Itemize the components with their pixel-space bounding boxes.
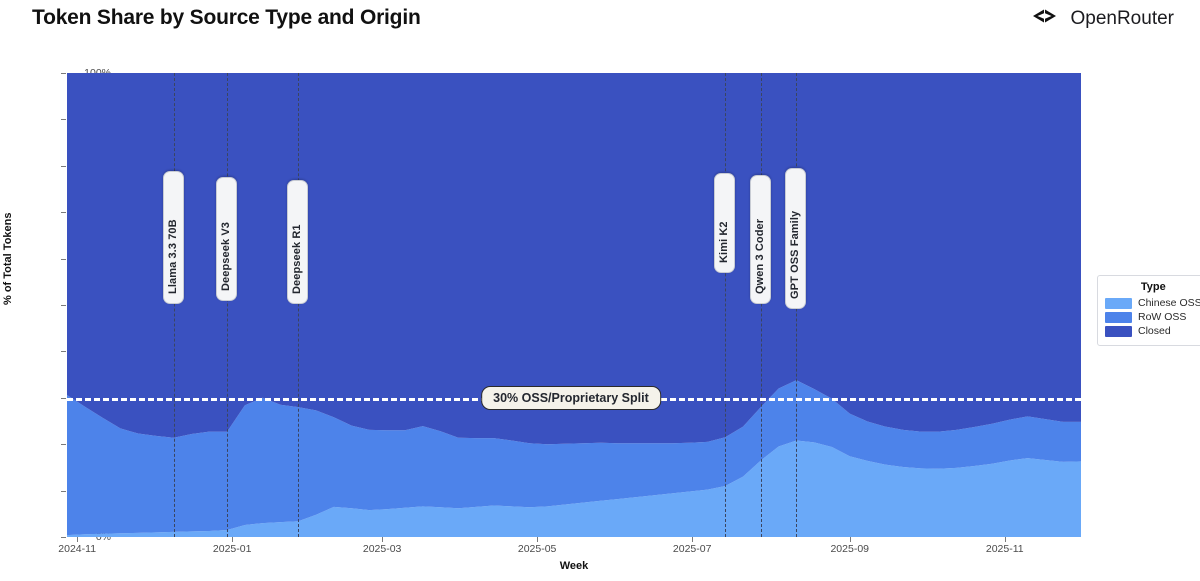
- x-tick-mark: [382, 537, 383, 542]
- event-label: Kimi K2: [714, 173, 735, 273]
- legend-item-label: Closed: [1138, 325, 1171, 337]
- y-tick-mark: [61, 351, 66, 352]
- chart-header: Token Share by Source Type and Origin Op…: [0, 0, 1200, 48]
- x-tick-label: 2025-03: [363, 543, 402, 555]
- x-tick-mark: [1005, 537, 1006, 542]
- x-tick-mark: [232, 537, 233, 542]
- plot-clip: [67, 73, 1081, 537]
- legend-items: Chinese OSSRoW OSSClosed: [1105, 297, 1200, 337]
- stacked-area-chart: [67, 73, 1081, 537]
- legend-title: Type: [1105, 281, 1200, 293]
- brand-name: OpenRouter: [1070, 8, 1174, 30]
- x-tick-label: 2025-07: [673, 543, 712, 555]
- brand: OpenRouter: [1031, 5, 1174, 32]
- x-tick-label: 2025-01: [213, 543, 252, 555]
- x-tick-label: 2024-11: [58, 543, 96, 555]
- x-tick-mark: [537, 537, 538, 542]
- y-tick-mark: [61, 444, 66, 445]
- legend-item[interactable]: Chinese OSS: [1105, 297, 1200, 309]
- y-axis-title: % of Total Tokens: [2, 213, 14, 306]
- x-tick-label: 2025-05: [518, 543, 557, 555]
- x-tick-mark: [77, 537, 78, 542]
- y-tick-mark: [61, 398, 66, 399]
- plot-area: [67, 73, 1081, 537]
- y-tick-mark: [61, 259, 66, 260]
- threshold-label: 30% OSS/Proprietary Split: [481, 386, 661, 410]
- x-tick-mark: [692, 537, 693, 542]
- event-line: [174, 73, 175, 537]
- legend: Type Chinese OSSRoW OSSClosed: [1097, 275, 1200, 346]
- event-line: [725, 73, 726, 537]
- event-line: [227, 73, 228, 537]
- openrouter-chevron-logo-icon: [1031, 5, 1061, 32]
- y-tick-mark: [61, 119, 66, 120]
- x-tick-label: 2025-11: [986, 543, 1024, 555]
- event-label: Deepseek V3: [216, 177, 237, 301]
- event-label: Qwen 3 Coder: [750, 175, 771, 304]
- legend-item-label: Chinese OSS: [1138, 297, 1200, 309]
- x-tick-label: 2025-09: [830, 543, 869, 555]
- y-tick-mark: [61, 305, 66, 306]
- y-tick-mark: [61, 537, 66, 538]
- page-title: Token Share by Source Type and Origin: [32, 6, 421, 30]
- legend-item-label: RoW OSS: [1138, 311, 1186, 323]
- legend-swatch: [1105, 298, 1132, 309]
- x-axis-title: Week: [0, 560, 1148, 572]
- legend-item[interactable]: Closed: [1105, 325, 1200, 337]
- y-tick-mark: [61, 491, 66, 492]
- event-line: [761, 73, 762, 537]
- event-line: [298, 73, 299, 537]
- y-tick-mark: [61, 166, 66, 167]
- legend-swatch: [1105, 312, 1132, 323]
- x-tick-mark: [850, 537, 851, 542]
- legend-swatch: [1105, 326, 1132, 337]
- y-tick-mark: [61, 73, 66, 74]
- event-label: Llama 3.3 70B: [163, 171, 184, 304]
- y-tick-mark: [61, 212, 66, 213]
- event-label: GPT OSS Family: [785, 168, 806, 309]
- event-label: Deepseek R1: [287, 180, 308, 304]
- legend-item[interactable]: RoW OSS: [1105, 311, 1200, 323]
